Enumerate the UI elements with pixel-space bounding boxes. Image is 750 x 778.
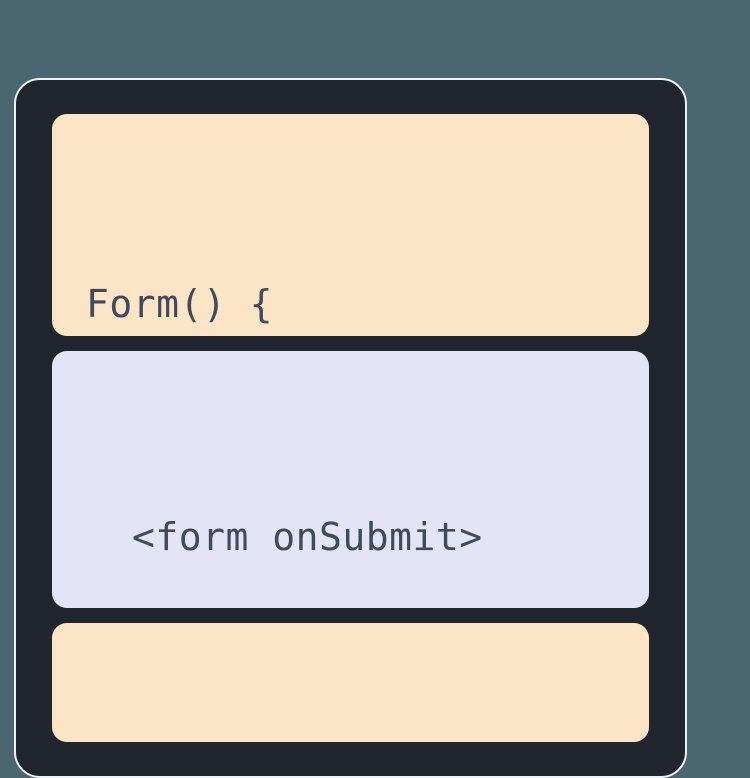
code-block-outer-component-open: Form() { onClick() {...} onSubmit() {...… <box>52 114 649 336</box>
code-line: Form() { <box>76 272 625 336</box>
code-block-inner-markup: <form onSubmit> <input onClick /> <input… <box>52 351 649 608</box>
code-card: Form() { onClick() {...} onSubmit() {...… <box>14 78 687 778</box>
code-line: <form onSubmit> <box>76 505 625 569</box>
code-block-outer-component-close: } <box>52 623 649 742</box>
screenshot-stage: Form() { onClick() {...} onSubmit() {...… <box>0 0 750 762</box>
